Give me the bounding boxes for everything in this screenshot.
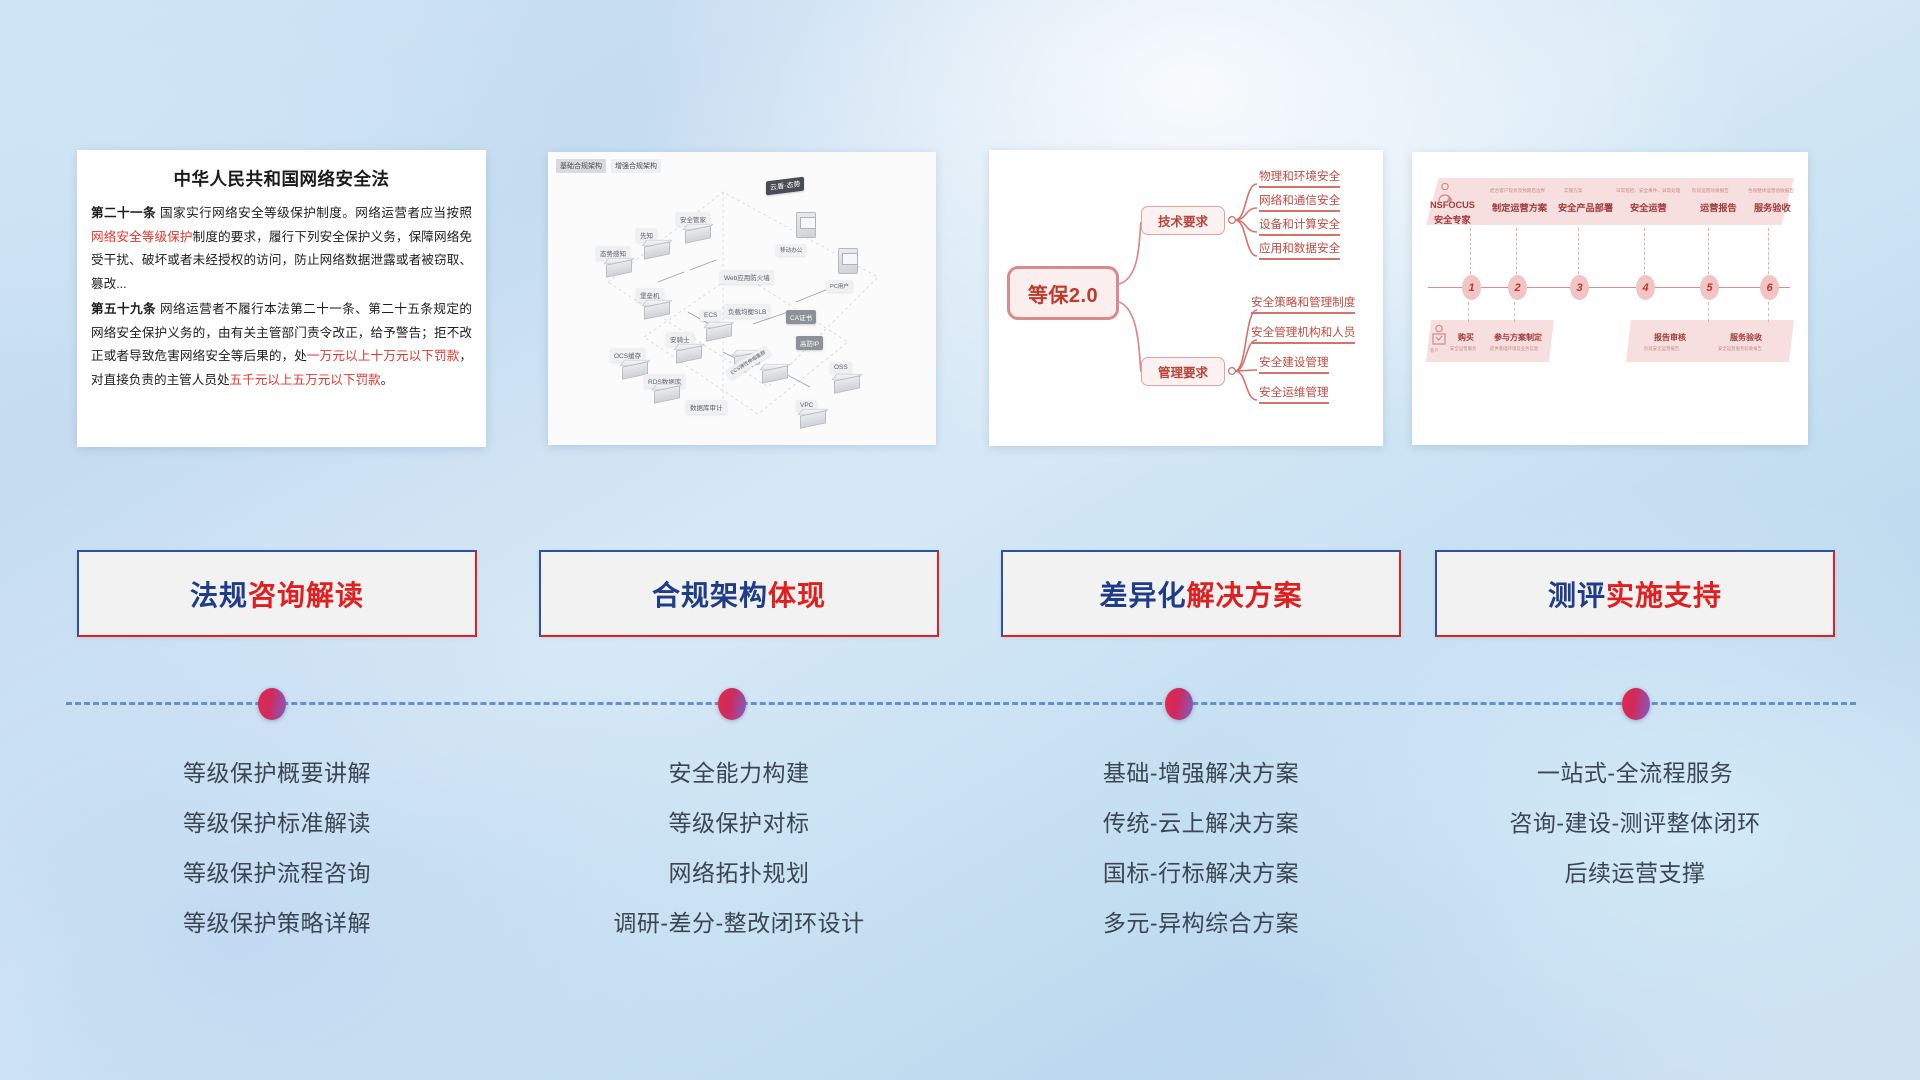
nsfocus-step-dot-6: 6 (1760, 275, 1779, 300)
architecture-connectors (548, 152, 936, 445)
card-mindmap: 等保2.0 技术要求 管理要求 物理和环境安全 网络和通信安全 设备和计算安全 … (989, 150, 1383, 446)
timeline-axis (66, 702, 1856, 705)
nsfocus-step-4-label: 安全运营 (1630, 200, 1667, 214)
list-item: 网络拓扑规划 (539, 848, 939, 898)
timeline-dot-3[interactable] (1165, 688, 1193, 720)
nsfocus-step-3-label: 安全产品部署 (1558, 200, 1613, 214)
list-item: 传统-云上解决方案 (1001, 798, 1401, 848)
list-item: 多元-异构综合方案 (1001, 898, 1401, 948)
nsfocus-expert-icon (1436, 182, 1454, 202)
architecture-cube-3 (606, 256, 632, 276)
title-box-1-blue: 法规 (190, 580, 248, 611)
title-box-4-blue: 测评 (1548, 580, 1606, 611)
nsfocus-bottom-sub-2: 提供基础环境及业务信息 (1490, 346, 1538, 352)
architecture-node-ca-cert: CA证书 (786, 310, 816, 324)
title-box-3-blue: 差异化 (1099, 580, 1186, 611)
mindmap-branch-technical: 技术要求 (1141, 206, 1225, 235)
column-list-4: 一站式-全流程服务 咨询-建设-测评整体闭环 后续运营支撑 (1435, 748, 1835, 898)
nsfocus-bottom-sub-4: 安全运营服务验收报告 (1718, 346, 1762, 352)
architecture-cube-8 (654, 382, 680, 402)
slide-canvas: 中华人民共和国网络安全法 第二十一条 国家实行网络安全等级保护制度。网络运营者应… (0, 0, 1920, 1080)
law-article-21: 第二十一条 国家实行网络安全等级保护制度。网络运营者应当按照网络安全等级保护制度… (91, 202, 472, 296)
list-item: 咨询-建设-测评整体闭环 (1435, 798, 1835, 848)
law-title: 中华人民共和国网络安全法 (77, 150, 486, 202)
nsfocus-step-4-sub: 日常巡检、安全事件、异常处理 (1616, 188, 1680, 194)
nsfocus-step-3-sub: 实施方案 (1564, 188, 1582, 194)
nsfocus-customer-icon (1430, 324, 1448, 346)
nsfocus-brand-sub: 安全专家 (1434, 212, 1471, 226)
list-item: 国标-行标解决方案 (1001, 848, 1401, 898)
architecture-node-pc-user: PC用户 (826, 280, 853, 292)
list-item: 等级保护流程咨询 (77, 848, 477, 898)
mindmap-leaf-tech-4: 应用和数据安全 (1259, 240, 1340, 260)
nsfocus-step-2-label: 制定运营方案 (1492, 200, 1547, 214)
list-item: 后续运营支撑 (1435, 848, 1835, 898)
title-box-4-red: 实施支持 (1606, 580, 1722, 611)
mindmap-leaf-tech-3: 设备和计算安全 (1259, 216, 1340, 236)
card-law-text: 中华人民共和国网络安全法 第二十一条 国家实行网络安全等级保护制度。网络运营者应… (77, 150, 486, 447)
mindmap-leaf-mgmt-3: 安全建设管理 (1259, 354, 1329, 374)
architecture-cube-12 (800, 407, 826, 427)
law-article-59-highlight-1: 一万元以上十万元以下罚款 (307, 349, 459, 363)
nsfocus-step-5-sub: 阶段运营效果报告 (1692, 188, 1729, 194)
nsfocus-bottom-label-1: 购买 (1458, 332, 1474, 343)
timeline-dot-4[interactable] (1622, 688, 1650, 720)
nsfocus-step-dot-1: 1 (1462, 275, 1481, 300)
timeline-dot-2[interactable] (718, 688, 746, 720)
law-article-59-label: 第五十九条 (91, 302, 156, 316)
architecture-cube-11 (834, 372, 860, 392)
architecture-node-mobile-office: 移动办公 (776, 244, 806, 256)
law-article-59-highlight-2: 五千元以上五万元以下罚款 (230, 373, 381, 387)
nsfocus-step-dot-2: 2 (1508, 275, 1527, 300)
column-list-1: 等级保护概要讲解 等级保护标准解读 等级保护流程咨询 等级保护策略详解 (77, 748, 477, 948)
law-article-21-label: 第二十一条 (91, 206, 156, 220)
column-list-2: 安全能力构建 等级保护对标 网络拓扑规划 调研-差分-整改闭环设计 (539, 748, 939, 948)
timeline-dot-1[interactable] (258, 688, 286, 720)
law-article-21-part1: 国家实行网络安全等级保护制度。网络运营者应当按照 (160, 206, 472, 220)
nsfocus-connector-b4 (1768, 302, 1769, 322)
law-body: 第二十一条 国家实行网络安全等级保护制度。网络运营者应当按照网络安全等级保护制度… (77, 202, 486, 392)
nsfocus-step-dot-5: 5 (1700, 275, 1719, 300)
mindmap-leaf-mgmt-1: 安全策略和管理制度 (1251, 294, 1355, 314)
architecture-cube-5 (706, 320, 732, 340)
mindmap-leaf-mgmt-2: 安全管理机构和人员 (1251, 324, 1355, 344)
architecture-tab-enhanced[interactable]: 增强合规架构 (611, 159, 661, 173)
nsfocus-bottom-band-right (1626, 320, 1794, 362)
list-item: 基础-增强解决方案 (1001, 748, 1401, 798)
nsfocus-bottom-label-2: 参与方案制定 (1494, 332, 1542, 343)
mindmap-root: 等保2.0 (1007, 266, 1119, 320)
architecture-node-anti-ddos: 高防IP (796, 336, 823, 350)
nsfocus-connector-b3 (1708, 302, 1709, 322)
architecture-cube-6 (676, 342, 702, 362)
mindmap-leaf-tech-2: 网络和通信安全 (1259, 192, 1340, 212)
nsfocus-connector-b2 (1514, 302, 1515, 322)
mindmap-branch-management: 管理要求 (1141, 357, 1225, 386)
card-architecture-diagram: 基础合规架构 增强合规架构 云盾·态势 安全管家 先知 (548, 152, 936, 445)
title-box-2-red: 体现 (768, 580, 826, 611)
title-box-1[interactable]: 法规咨询解读 (77, 550, 477, 637)
nsfocus-bottom-label-4: 服务验收 (1730, 332, 1762, 343)
list-item: 一站式-全流程服务 (1435, 748, 1835, 798)
nsfocus-bottom-sub-3: 阶段安全运营报告 (1644, 346, 1679, 352)
nsfocus-bottom-sub-1: 安全运营服务 (1450, 346, 1476, 352)
nsfocus-step-2-sub: 结合客户现状及预期后边界 (1490, 188, 1545, 194)
architecture-cube-2 (644, 238, 670, 258)
architecture-server-1 (796, 212, 816, 238)
list-item: 等级保护概要讲解 (77, 748, 477, 798)
nsfocus-step-6-sub: 合规整体运营验收报告 (1748, 188, 1794, 194)
nsfocus-brand: NSFOCUS (1430, 200, 1475, 210)
architecture-node-db-audit: 数据库审计 (686, 400, 727, 414)
title-box-1-red: 咨询解读 (248, 580, 364, 611)
architecture-cube-1 (685, 222, 711, 242)
nsfocus-step-dot-3: 3 (1570, 275, 1589, 300)
title-box-2[interactable]: 合规架构体现 (539, 550, 939, 637)
architecture-node-waf: Web应用防火墙 (720, 270, 774, 284)
nsfocus-bottom-label-3: 报告审核 (1654, 332, 1686, 343)
title-box-3[interactable]: 差异化解决方案 (1001, 550, 1401, 637)
title-box-2-blue: 合规架构 (652, 580, 768, 611)
nsfocus-step-6-label: 服务验收 (1754, 200, 1791, 214)
list-item: 等级保护对标 (539, 798, 939, 848)
architecture-tabs: 基础合规架构 增强合规架构 (556, 159, 661, 173)
nsfocus-axis (1428, 287, 1790, 288)
nsfocus-step-dot-4: 4 (1636, 275, 1655, 300)
nsfocus-step-5-label: 运营报告 (1700, 200, 1737, 214)
nsfocus-connector-b1 (1468, 302, 1469, 322)
list-item: 等级保护策略详解 (77, 898, 477, 948)
mindmap-leaf-mgmt-4: 安全运维管理 (1259, 384, 1329, 404)
mindmap-collapse-mgmt-icon (1229, 368, 1236, 375)
architecture-cube-4 (644, 298, 670, 318)
law-article-21-highlight: 网络安全等级保护 (91, 230, 193, 244)
title-box-3-red: 解决方案 (1187, 580, 1303, 611)
nsfocus-canvas: NSFOCUS 安全专家 客户 结合客户现状及预期后边界 制定运营方案 实施方案… (1412, 152, 1808, 445)
mindmap-collapse-tech-icon (1229, 217, 1236, 224)
architecture-node-slb: 负载均衡SLB (724, 304, 770, 318)
architecture-tab-basic[interactable]: 基础合规架构 (556, 159, 606, 173)
architecture-cube-10 (762, 362, 788, 382)
mindmap-leaf-tech-1: 物理和环境安全 (1259, 168, 1340, 188)
nsfocus-customer-label: 客户 (1430, 348, 1439, 354)
architecture-server-2 (838, 248, 858, 274)
list-item: 安全能力构建 (539, 748, 939, 798)
column-list-3: 基础-增强解决方案 传统-云上解决方案 国标-行标解决方案 多元-异构综合方案 (1001, 748, 1401, 948)
architecture-canvas: 基础合规架构 增强合规架构 云盾·态势 安全管家 先知 (548, 152, 936, 445)
title-box-4[interactable]: 测评实施支持 (1435, 550, 1835, 637)
card-nsfocus-timeline: NSFOCUS 安全专家 客户 结合客户现状及预期后边界 制定运营方案 实施方案… (1412, 152, 1808, 445)
law-article-59: 第五十九条 网络运营者不履行本法第二十一条、第二十五条规定的网络安全保护义务的，… (91, 298, 472, 392)
list-item: 调研-差分-整改闭环设计 (539, 898, 939, 948)
mindmap-canvas: 等保2.0 技术要求 管理要求 物理和环境安全 网络和通信安全 设备和计算安全 … (989, 150, 1383, 446)
law-article-59-part3: 。 (381, 373, 394, 387)
list-item: 等级保护标准解读 (77, 798, 477, 848)
